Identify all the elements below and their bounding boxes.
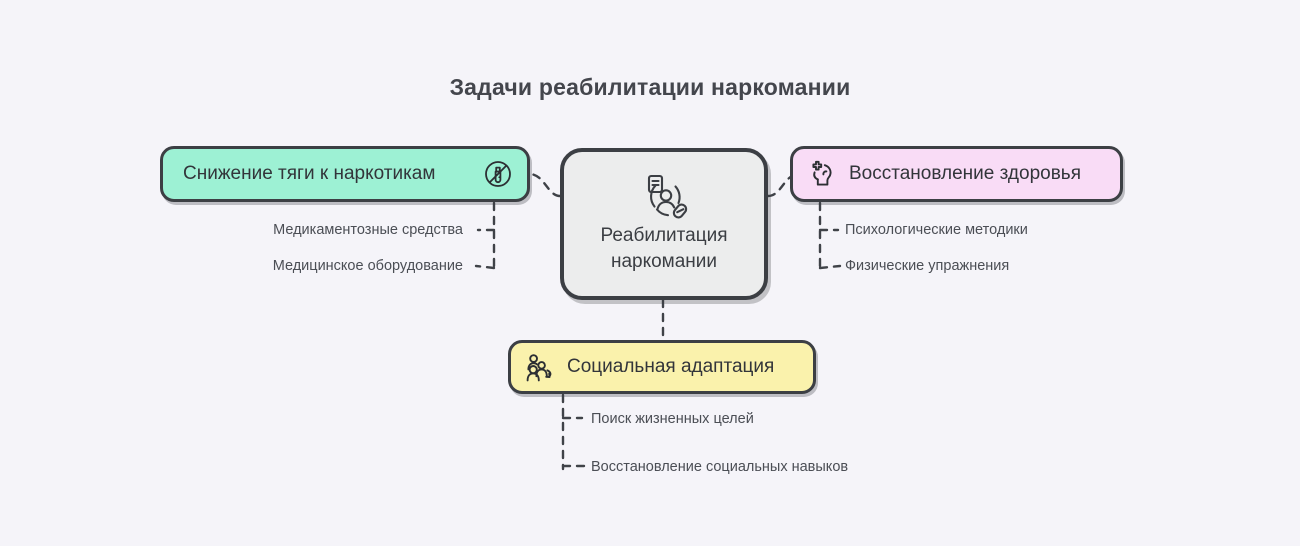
person-document-pill-icon [637, 173, 691, 221]
central-node[interactable]: Реабилитация наркомании [560, 148, 768, 300]
sub-label-social-1: Поиск жизненных целей [591, 411, 754, 427]
mindmap-canvas: Задачи реабилитации наркомании Реабилита… [0, 0, 1300, 546]
sub-label-craving-1: Медикаментозные средства [80, 222, 463, 238]
connector-craving-stub-2 [476, 266, 494, 268]
branch-node-health[interactable]: Восстановление здоровья [790, 146, 1123, 202]
connector-health-stub-2 [820, 266, 840, 268]
page-title: Задачи реабилитации наркомании [0, 74, 1300, 101]
sub-label-craving-2: Медицинское оборудование [80, 258, 463, 274]
connector-central-to-craving [531, 174, 560, 196]
no-drugs-icon [483, 159, 513, 189]
sub-label-health-1: Психологические методики [845, 222, 1028, 238]
people-group-arrow-icon [525, 352, 557, 382]
sub-label-social-2: Восстановление социальных навыков [591, 459, 848, 475]
branch-label-health: Восстановление здоровья [849, 163, 1081, 185]
branch-label-social: Социальная адаптация [567, 356, 774, 378]
central-node-label: Реабилитация наркомании [600, 223, 727, 274]
branch-label-craving: Снижение тяги к наркотикам [183, 163, 435, 185]
head-medical-cross-icon [807, 159, 837, 189]
sub-label-health-2: Физические упражнения [845, 258, 1009, 274]
branch-node-social[interactable]: Социальная адаптация [508, 340, 816, 394]
branch-node-craving[interactable]: Снижение тяги к наркотикам [160, 146, 530, 202]
